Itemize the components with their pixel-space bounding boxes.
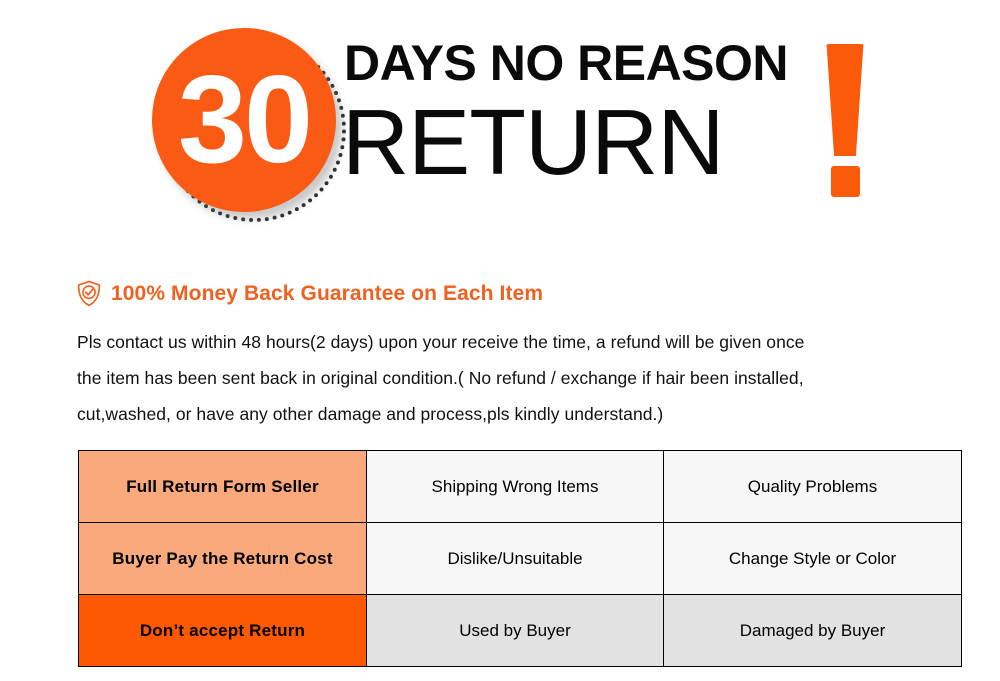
money-back-guarantee: 100% Money Back Guarantee on Each Item	[76, 280, 543, 307]
guarantee-label: 100% Money Back Guarantee on Each Item	[111, 282, 543, 306]
table-cell-responsibility: Buyer Pay the Return Cost	[79, 523, 367, 595]
table-cell-reason-primary: Dislike/Unsuitable	[367, 523, 664, 595]
badge-number-label: 30	[152, 28, 336, 212]
policy-paragraph: Pls contact us within 48 hours(2 days) u…	[77, 324, 933, 432]
table-cell-reason-primary: Shipping Wrong Items	[367, 451, 664, 523]
policy-line: Pls contact us within 48 hours(2 days) u…	[77, 324, 933, 360]
days-badge: 30	[150, 26, 370, 226]
exclamation-mark-icon	[824, 44, 870, 196]
return-responsibility-table: Full Return Form Seller Shipping Wrong I…	[78, 450, 962, 667]
table-cell-reason-primary: Used by Buyer	[367, 595, 664, 667]
banner-headline-bottom: RETURN	[342, 96, 724, 189]
banner-headline-top: DAYS NO REASON	[344, 38, 788, 88]
table-row: Buyer Pay the Return Cost Dislike/Unsuit…	[79, 523, 962, 595]
table-cell-reason-secondary: Change Style or Color	[664, 523, 962, 595]
return-policy-banner: 30 DAYS NO REASON RETURN	[0, 0, 1000, 245]
table-cell-responsibility: Full Return Form Seller	[79, 451, 367, 523]
policy-line: the item has been sent back in original …	[77, 360, 933, 396]
table-cell-reason-secondary: Quality Problems	[664, 451, 962, 523]
table-row: Don’t accept Return Used by Buyer Damage…	[79, 595, 962, 667]
policy-line: cut,washed, or have any other damage and…	[77, 396, 933, 432]
table-row: Full Return Form Seller Shipping Wrong I…	[79, 451, 962, 523]
table-cell-responsibility: Don’t accept Return	[79, 595, 367, 667]
shield-check-icon	[76, 280, 102, 307]
exclamation-dot	[831, 166, 860, 197]
table-cell-reason-secondary: Damaged by Buyer	[664, 595, 962, 667]
exclamation-stem	[824, 44, 866, 156]
